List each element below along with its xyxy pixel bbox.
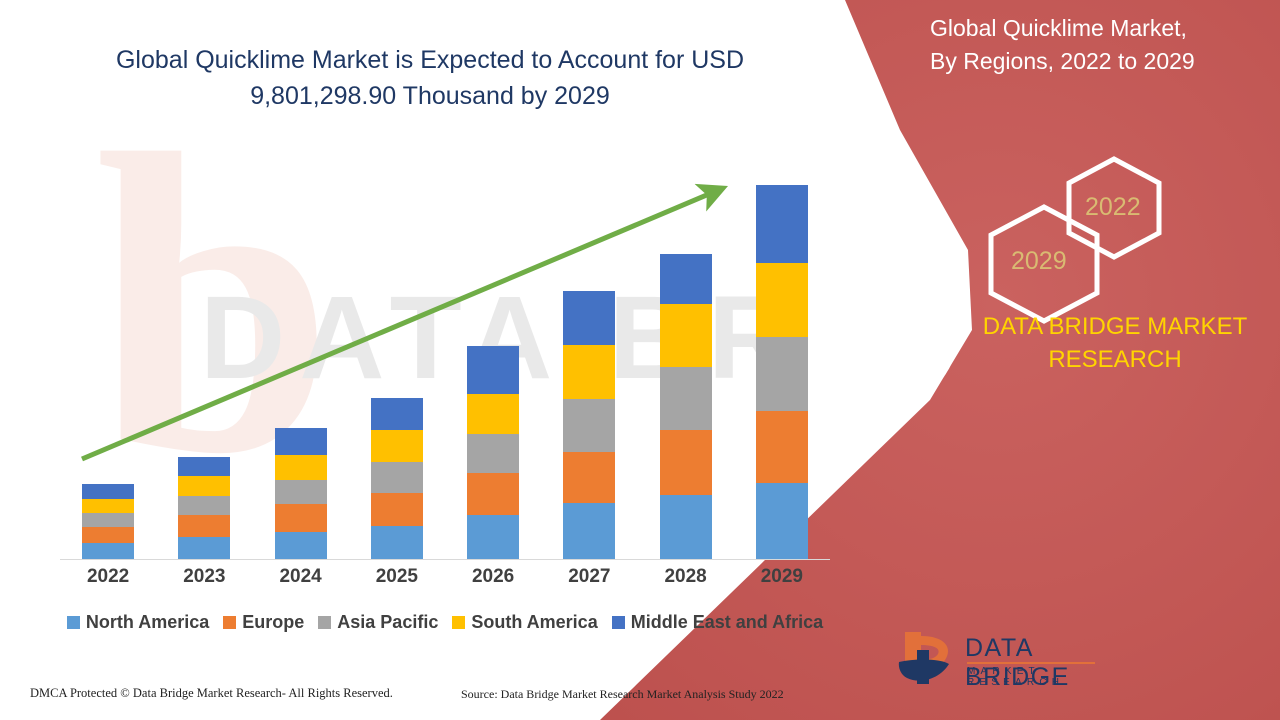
legend-swatch-icon [67,616,80,629]
legend-item[interactable]: Middle East and Africa [612,612,823,633]
legend-label: North America [86,612,209,633]
legend-label: Europe [242,612,304,633]
bar-segment [275,532,327,559]
stacked-bar-2028 [660,254,712,559]
bar-segment [178,457,230,477]
bar-segment [756,337,808,411]
logo-tagline: MARKET RESEARCH [967,666,1100,688]
legend-item[interactable]: South America [452,612,597,633]
bar-segment [563,291,615,345]
panel-title: Global Quicklime Market, By Regions, 202… [930,12,1260,78]
stacked-bar-2024 [275,428,327,559]
bar-segment [82,527,134,543]
bar-segment [563,503,615,559]
x-axis-line [60,559,830,560]
bar-segment [178,496,230,515]
bar-segment [371,462,423,494]
x-axis-tick-2022: 2022 [60,566,156,588]
bar-segment [178,537,230,559]
x-axis-tick-2025: 2025 [349,566,445,588]
legend-swatch-icon [612,616,625,629]
bar-segment [371,493,423,526]
bar-segment [178,476,230,496]
bar-segment [660,367,712,430]
logo-mark [895,628,961,688]
bar-segment [82,513,134,527]
stacked-bar-2023 [178,457,230,559]
bar-segment [371,430,423,462]
bar-segment [660,495,712,559]
bar-segment [756,185,808,263]
bar-segment [467,394,519,434]
bar-column [445,346,541,559]
bar-segment [178,515,230,537]
bar-column [60,484,156,559]
x-axis-tick-2028: 2028 [638,566,734,588]
bar-column [253,428,349,559]
bar-column [638,254,734,559]
legend-swatch-icon [223,616,236,629]
stacked-bar-2022 [82,484,134,559]
source-note: Source: Data Bridge Market Research Mark… [461,687,784,702]
brand-line2: RESEARCH [950,343,1280,376]
stacked-bar-2025 [371,398,423,559]
chart-plot-area [60,160,830,560]
stacked-bar-2026 [467,346,519,559]
bar-column [349,398,445,559]
legend-label: Asia Pacific [337,612,438,633]
x-axis-tick-2026: 2026 [445,566,541,588]
brand-line1: DATA BRIDGE MARKET [950,310,1280,343]
legend-swatch-icon [318,616,331,629]
bar-segment [467,346,519,394]
bar-segment [563,452,615,504]
hexagon-group: 2029 2022 [985,155,1185,285]
legend-item[interactable]: Europe [223,612,304,633]
chart-legend: North AmericaEuropeAsia PacificSouth Ame… [60,612,830,633]
logo-divider [967,662,1095,664]
bar-segment [660,430,712,496]
x-axis-tick-2027: 2027 [541,566,637,588]
x-axis-labels: 20222023202420252026202720282029 [60,566,830,588]
bar-segment [467,434,519,474]
chart-title: Global Quicklime Market is Expected to A… [60,42,800,114]
brand-name: DATA BRIDGE MARKET RESEARCH [950,310,1280,376]
legend-label: South America [471,612,597,633]
bar-segment [275,455,327,481]
bar-segment [82,499,134,513]
legend-swatch-icon [452,616,465,629]
bar-segment [467,473,519,515]
bar-segment [756,411,808,484]
x-axis-tick-2029: 2029 [734,566,830,588]
bar-segment [275,480,327,504]
bar-segment [756,483,808,559]
bar-segment [467,515,519,559]
legend-item[interactable]: Asia Pacific [318,612,438,633]
bar-segment [82,484,134,499]
bar-segment [371,398,423,430]
bar-segment [275,504,327,532]
panel-title-line1: Global Quicklime Market, [930,12,1260,45]
hexagon-front-year: 2022 [1085,193,1141,222]
bar-column [734,185,830,559]
legend-label: Middle East and Africa [631,612,823,633]
data-bridge-logo: DATA BRIDGE MARKET RESEARCH [895,628,1100,690]
bar-segment [563,399,615,452]
panel-title-line2: By Regions, 2022 to 2029 [930,45,1260,78]
dmca-notice: DMCA Protected © Data Bridge Market Rese… [30,686,393,701]
bar-segment [660,254,712,305]
x-axis-tick-2023: 2023 [156,566,252,588]
stacked-bars [60,160,830,559]
bar-segment [275,428,327,455]
bar-segment [563,345,615,399]
bar-segment [82,543,134,559]
bar-column [541,291,637,559]
bar-column [156,457,252,559]
bar-segment [371,526,423,559]
bar-segment [756,263,808,338]
stacked-bar-2029 [756,185,808,559]
infographic-slide: b DATA BRIDGE MARKET RESEARCH Global Qui… [0,0,1280,720]
x-axis-tick-2024: 2024 [253,566,349,588]
hexagon-back-year: 2029 [1011,247,1067,276]
bar-segment [660,304,712,367]
legend-item[interactable]: North America [67,612,209,633]
stacked-bar-2027 [563,291,615,559]
